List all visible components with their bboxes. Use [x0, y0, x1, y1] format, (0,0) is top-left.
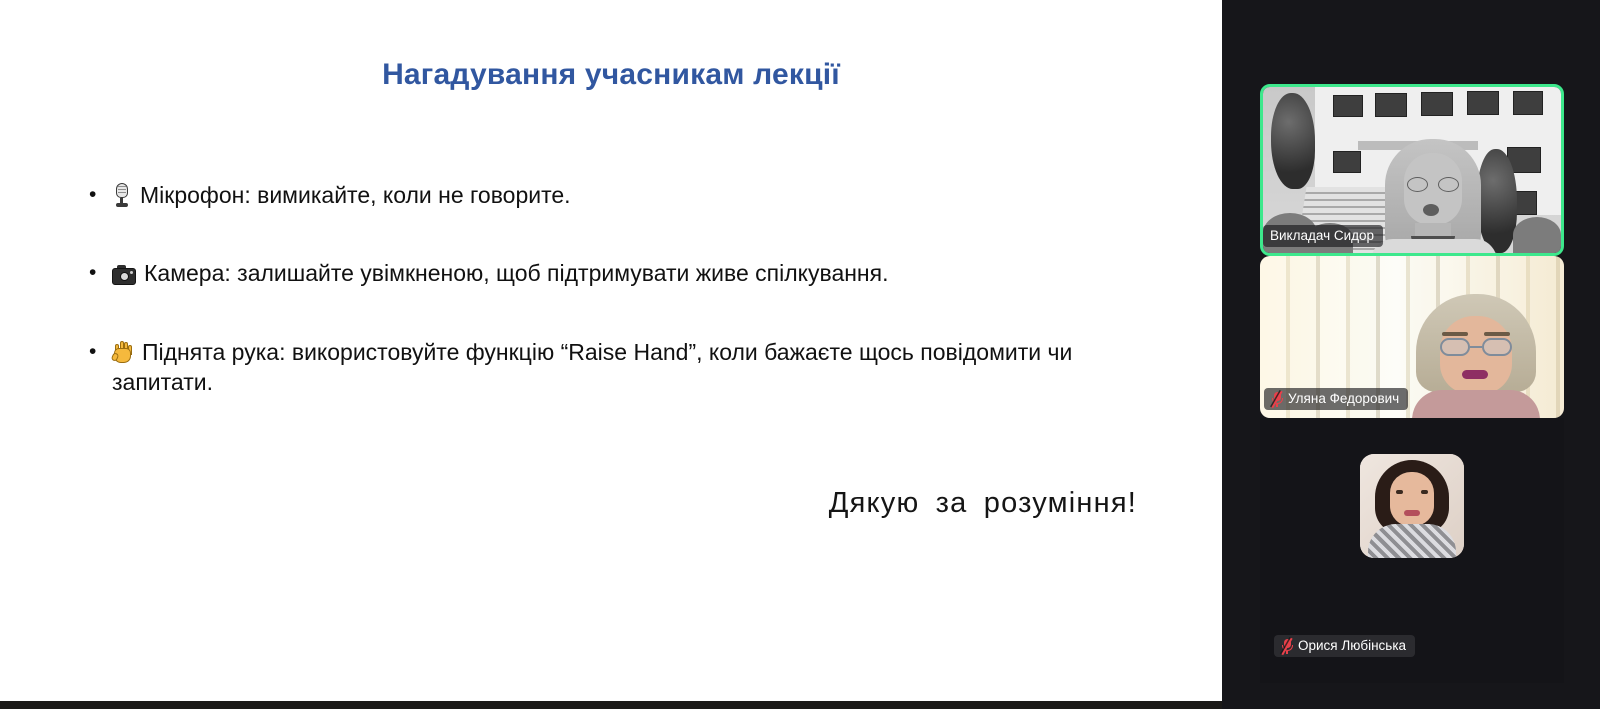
microphone-icon	[112, 183, 132, 207]
participant-video-panel[interactable]: Викладач Сидор	[1222, 0, 1600, 709]
bullet-marker: •	[89, 338, 96, 366]
participant-name-label: Уляна Федорович	[1264, 388, 1408, 410]
slide-title: Нагадування учасникам лекції	[0, 58, 1222, 92]
bullet-marker: •	[89, 259, 96, 287]
bullet-item-microphone: • Мікрофон: вимикайте, коли не говорите.	[84, 180, 1144, 210]
camera-icon	[112, 265, 136, 285]
microphone-muted-icon	[1271, 391, 1283, 407]
participant-name-label: Орися Любінська	[1274, 635, 1415, 657]
participant-tile-vykladach-sydor[interactable]: Викладач Сидор	[1260, 84, 1564, 256]
slide-bottom-strip	[0, 701, 1222, 709]
shared-screen-stage: Нагадування учасникам лекції • Мікрофон:…	[0, 0, 1222, 709]
participant-name: Орися Любінська	[1298, 639, 1406, 653]
bullet-marker: •	[89, 181, 96, 209]
raised-hand-icon	[112, 340, 134, 364]
bullet-item-raise-hand: • Піднята рука: використовуйте функцію “…	[84, 337, 1144, 398]
meeting-screen: Нагадування учасникам лекції • Мікрофон:…	[0, 0, 1600, 709]
participant-tile-ulyana-fedorovych[interactable]: Уляна Федорович	[1260, 256, 1564, 418]
participant-name: Уляна Федорович	[1288, 392, 1399, 406]
bullet-item-camera: • Камера: залишайте увімкненою, щоб підт…	[84, 258, 1144, 288]
avatar-photo	[1360, 454, 1464, 558]
avatar	[1360, 454, 1464, 558]
slide-closing-line: Дякую за розуміння!	[0, 487, 1137, 520]
microphone-muted-icon	[1281, 638, 1293, 654]
participant-video-person	[1371, 139, 1497, 253]
participant-video-person	[1410, 294, 1542, 418]
participant-tile-orysya-lyubinska[interactable]: Орися Любінська	[1260, 418, 1564, 683]
bullet-text: Мікрофон: вимикайте, коли не говорите.	[140, 182, 571, 208]
participant-name: Викладач Сидор	[1270, 229, 1374, 243]
participant-name-label: Викладач Сидор	[1263, 225, 1383, 247]
slide-bullet-list: • Мікрофон: вимикайте, коли не говорите.…	[84, 180, 1144, 445]
bullet-text: Піднята рука: використовуйте функцію “Ra…	[112, 339, 1072, 395]
presentation-slide: Нагадування учасникам лекції • Мікрофон:…	[0, 0, 1222, 701]
bullet-text: Камера: залишайте увімкненою, щоб підтри…	[144, 260, 888, 286]
